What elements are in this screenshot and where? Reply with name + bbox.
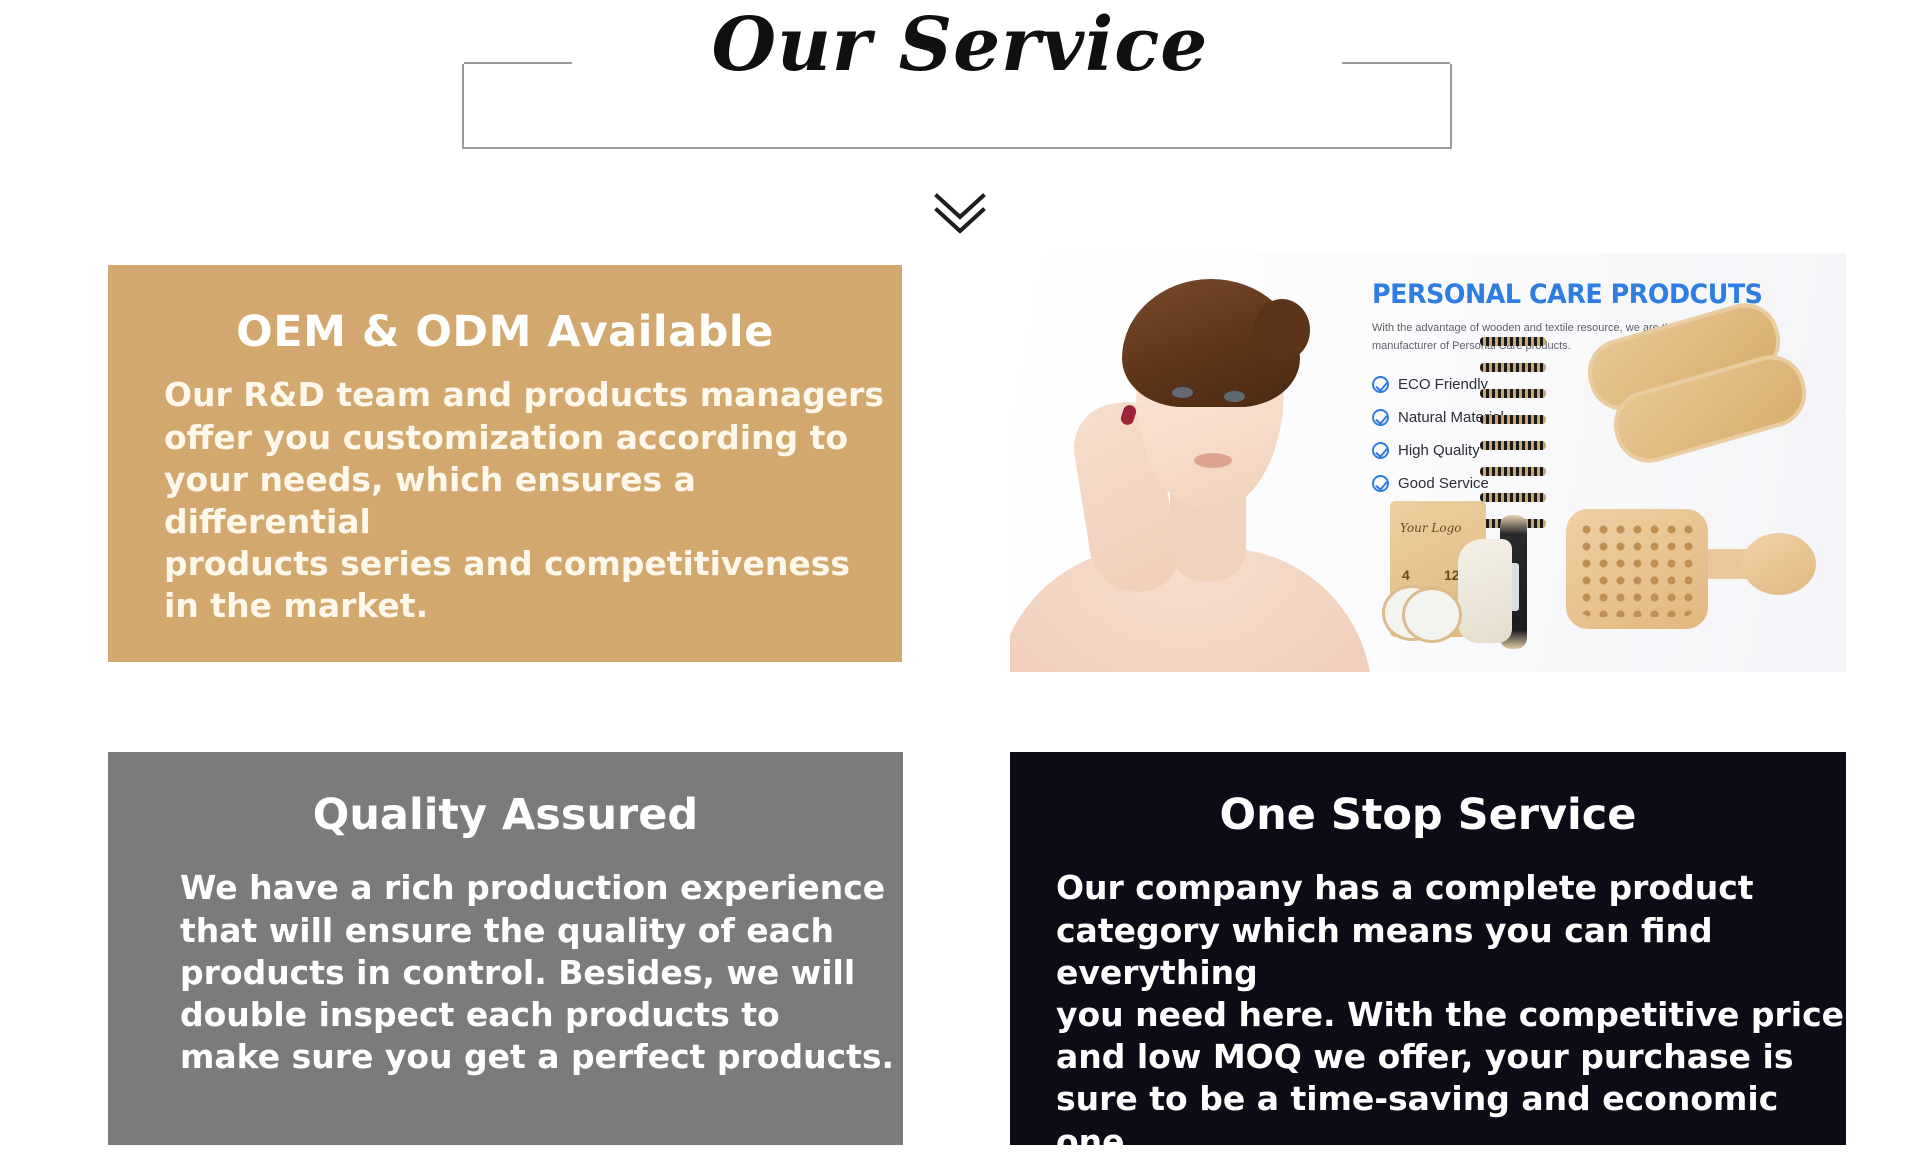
pouch-logo-text: Your Logo	[1400, 521, 1461, 535]
check-circle-icon	[1372, 409, 1389, 426]
model-eye-right	[1224, 391, 1245, 402]
wooden-paddle-brush	[1566, 505, 1816, 633]
model-lips	[1194, 453, 1232, 468]
panel-quality-body-line: make sure you get a perfect products.	[180, 1036, 903, 1078]
panel-onestop-body-line: you need here. With the competitive pric…	[1056, 994, 1846, 1036]
header: Our Service	[0, 0, 1920, 200]
panel-onestop-body-line: sure to be a time-saving and economic on…	[1056, 1078, 1846, 1145]
panel-quality-heading: Quality Assured	[108, 792, 903, 839]
panel-quality-body-line: that will ensure the quality of each	[180, 910, 903, 952]
promo-feature-label: Good Service	[1398, 475, 1489, 492]
our-service-page: Our Service OEM & ODM Available Our R&D …	[0, 0, 1920, 1162]
panel-one-stop-service: One Stop Service Our company has a compl…	[1010, 752, 1846, 1145]
list-item: High Quality	[1372, 434, 1834, 467]
panel-oem-body-line: in the market.	[164, 585, 902, 627]
panel-onestop-body-line: category which means you can find everyt…	[1056, 910, 1846, 994]
panel-onestop-body-line: Our company has a complete product	[1056, 867, 1846, 909]
panel-quality-body-line: products in control. Besides, we will	[180, 952, 903, 994]
panel-oem-body-line: offer you customization according to	[164, 417, 902, 459]
model-hair-bun	[1254, 299, 1310, 361]
scroll-down-indicator[interactable]	[0, 188, 1920, 240]
panel-oem-body-line: products series and competitiveness	[164, 543, 902, 585]
panel-quality-body: We have a rich production experience tha…	[180, 867, 903, 1078]
promo-image-panel: PERSONAL CARE PRODCUTS With the advantag…	[1010, 253, 1846, 672]
check-circle-icon	[1372, 376, 1389, 393]
page-title: Our Service	[0, 8, 1920, 82]
panel-onestop-heading: One Stop Service	[1010, 792, 1846, 839]
pouch-badge-left: 4	[1402, 567, 1410, 583]
panel-oem-body-line: Our R&D team and products managers	[164, 374, 902, 416]
panel-oem-body-line: your needs, which ensures a differential	[164, 459, 902, 543]
panel-quality-body-line: We have a rich production experience	[180, 867, 903, 909]
panel-onestop-body-line: and low MOQ we offer, your purchase is	[1056, 1036, 1846, 1078]
check-circle-icon	[1372, 442, 1389, 459]
promo-feature-label: ECO Friendly	[1398, 376, 1488, 393]
model-photo-illustration	[1018, 253, 1368, 672]
panel-oem-body: Our R&D team and products managers offer…	[164, 374, 902, 627]
panel-oem-heading: OEM & ODM Available	[108, 309, 902, 356]
panel-onestop-body: Our company has a complete product categ…	[1056, 867, 1846, 1145]
check-circle-icon	[1372, 475, 1389, 492]
list-item: Good Service	[1372, 467, 1834, 500]
panel-quality-body-line: double inspect each products to	[180, 994, 903, 1036]
model-eye-left	[1172, 387, 1193, 398]
reusable-cotton-pads	[1382, 583, 1468, 643]
double-chevron-down-icon	[931, 190, 989, 238]
promo-feature-label: High Quality	[1398, 442, 1480, 459]
personal-care-promo-banner: PERSONAL CARE PRODCUTS With the advantag…	[1010, 253, 1846, 672]
panel-quality-assured: Quality Assured We have a rich productio…	[108, 752, 903, 1145]
panel-oem-odm: OEM & ODM Available Our R&D team and pro…	[108, 265, 902, 662]
